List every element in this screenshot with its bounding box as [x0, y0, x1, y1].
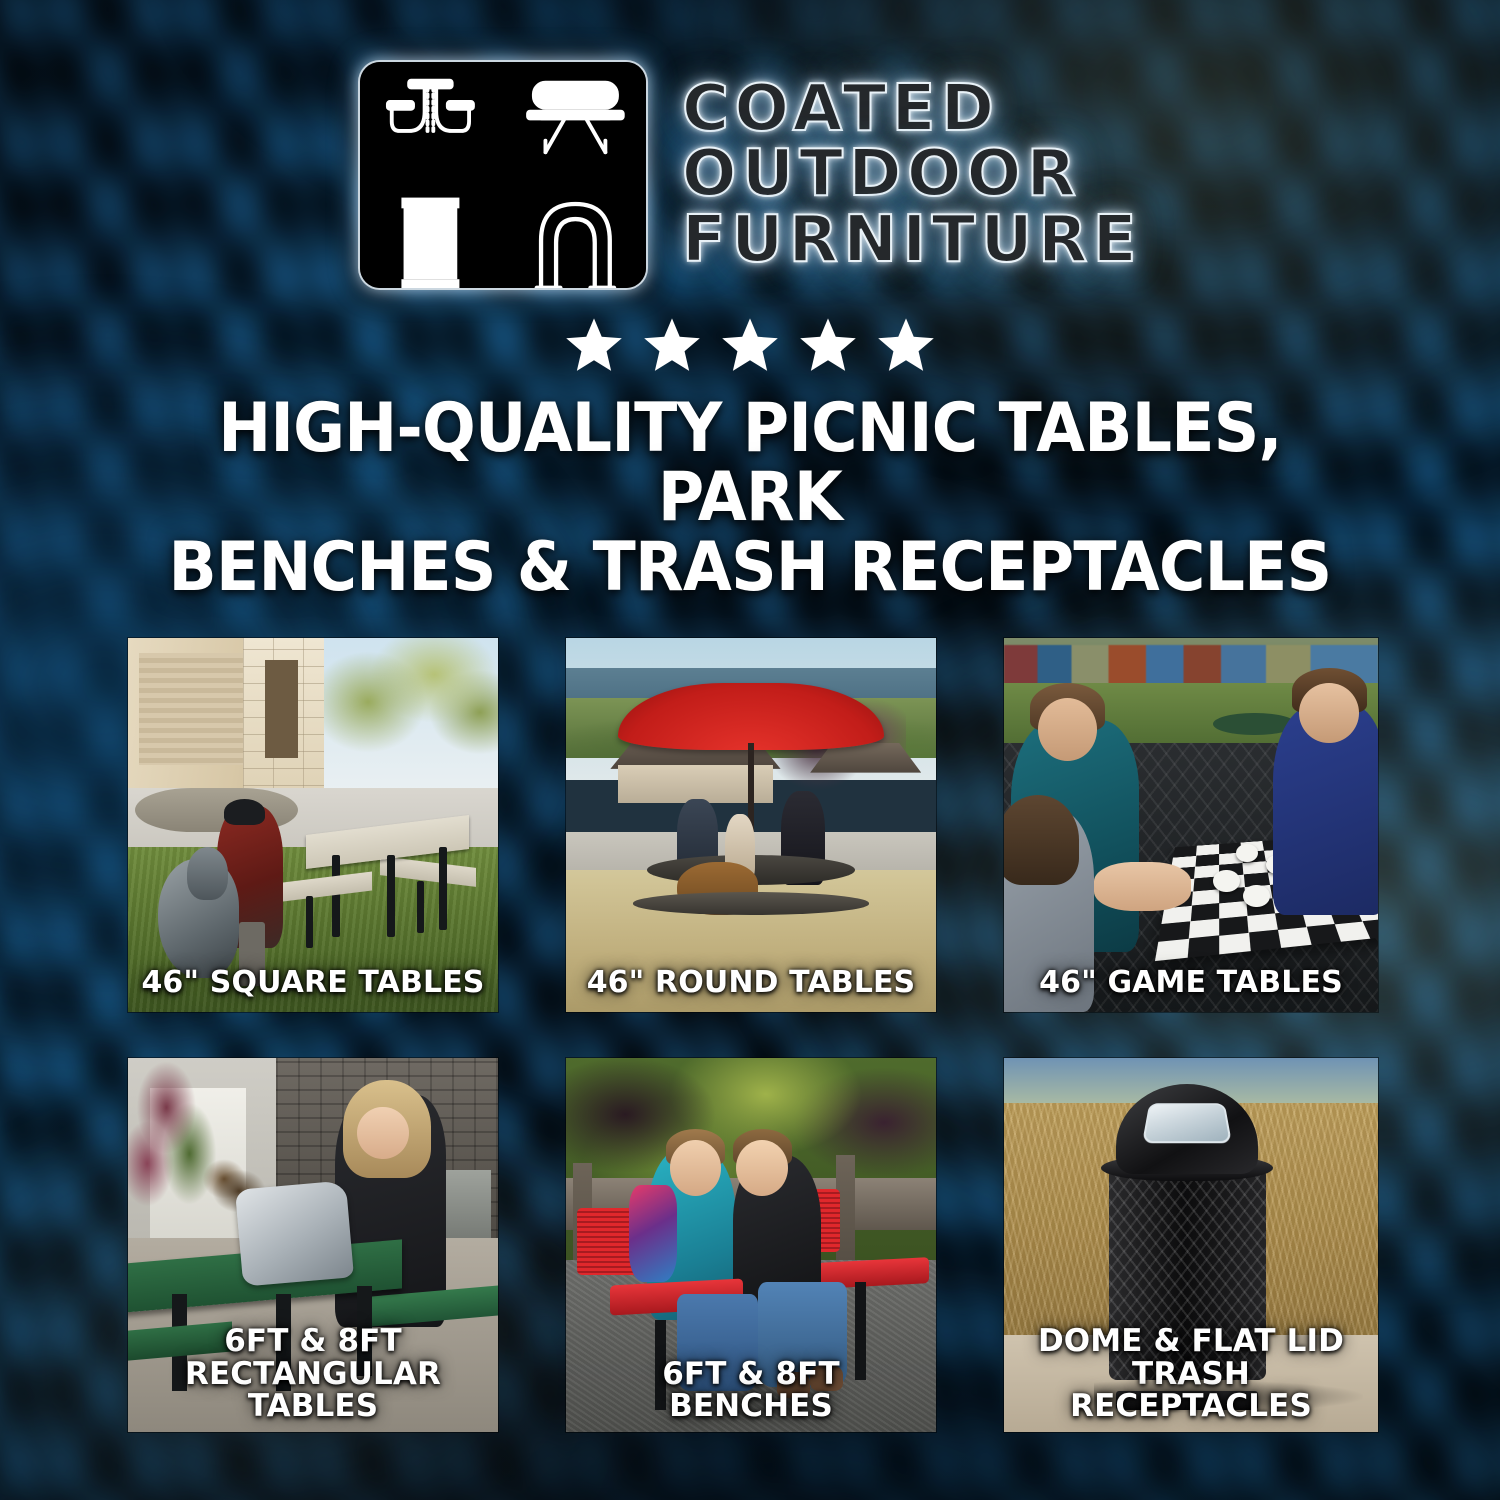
product-tile-trash-receptacles[interactable]: DOME & FLAT LID TRASH RECEPTACLES [1004, 1058, 1378, 1432]
product-caption: 46" SQUARE TABLES [128, 967, 498, 998]
product-tile-game-tables[interactable]: 46" GAME TABLES [1004, 638, 1378, 1012]
product-photo-game-tables [1004, 638, 1378, 1012]
caption-line-1: 46" ROUND TABLES [572, 967, 930, 998]
brand-logo: COATED OUTDOOR FURNITURE [0, 0, 1500, 290]
backpack [629, 1185, 677, 1282]
product-tile-square-tables[interactable]: 46" SQUARE TABLES [128, 638, 498, 1012]
logo-word-furniture: FURNITURE [682, 210, 1142, 271]
star-icon [720, 316, 780, 374]
flat-lid-trash-receptacle-icon [360, 176, 501, 290]
five-star-rating [0, 314, 1500, 376]
product-caption: 6FT & 8FT BENCHES [566, 1358, 936, 1422]
product-tile-round-tables[interactable]: 46" ROUND TABLES [566, 638, 936, 1012]
park-bench-icon [506, 62, 647, 171]
product-photo-square-tables [128, 638, 498, 1012]
logo-wordmark: COATED OUTDOOR FURNITURE [682, 79, 1142, 271]
product-tile-benches[interactable]: 6FT & 8FT BENCHES [566, 1058, 936, 1432]
caption-line-1: DOME & FLAT LID [1010, 1325, 1372, 1357]
star-icon [642, 316, 702, 374]
star-icon [798, 316, 858, 374]
page-title: HIGH-QUALITY PICNIC TABLES, PARK BENCHES… [53, 394, 1448, 602]
caption-line-2: BENCHES [572, 1390, 930, 1422]
picnic-table-icon [360, 62, 501, 171]
star-icon [876, 316, 936, 374]
product-caption: 46" GAME TABLES [1004, 967, 1378, 998]
product-caption: 46" ROUND TABLES [566, 967, 936, 998]
caption-line-1: 6FT & 8FT [134, 1325, 492, 1357]
headline-line-1: HIGH-QUALITY PICNIC TABLES, PARK [218, 389, 1282, 537]
dome-lid-trash-receptacle-icon [506, 176, 647, 290]
star-icon [564, 316, 624, 374]
caption-line-2: RECTANGULAR TABLES [134, 1358, 492, 1422]
product-grid: 46" SQUARE TABLES [128, 638, 1374, 1432]
product-tile-rectangular-tables[interactable]: 6FT & 8FT RECTANGULAR TABLES [128, 1058, 498, 1432]
caption-line-1: 46" GAME TABLES [1010, 967, 1372, 998]
caption-line-1: 6FT & 8FT [572, 1358, 930, 1390]
caption-line-2: TRASH RECEPTACLES [1010, 1358, 1372, 1422]
product-photo-round-tables [566, 638, 936, 1012]
headline-line-2: BENCHES & TRASH RECEPTACLES [118, 533, 1383, 602]
product-caption: 6FT & 8FT RECTANGULAR TABLES [128, 1325, 498, 1422]
poster-canvas: COATED OUTDOOR FURNITURE HIGH-QUALITY PI… [0, 0, 1500, 1500]
logo-word-coated: COATED [682, 79, 1142, 140]
logo-word-outdoor: OUTDOOR [682, 144, 1142, 205]
logo-icon-grid [358, 60, 648, 290]
caption-line-1: 46" SQUARE TABLES [134, 967, 492, 998]
product-caption: DOME & FLAT LID TRASH RECEPTACLES [1004, 1325, 1378, 1422]
